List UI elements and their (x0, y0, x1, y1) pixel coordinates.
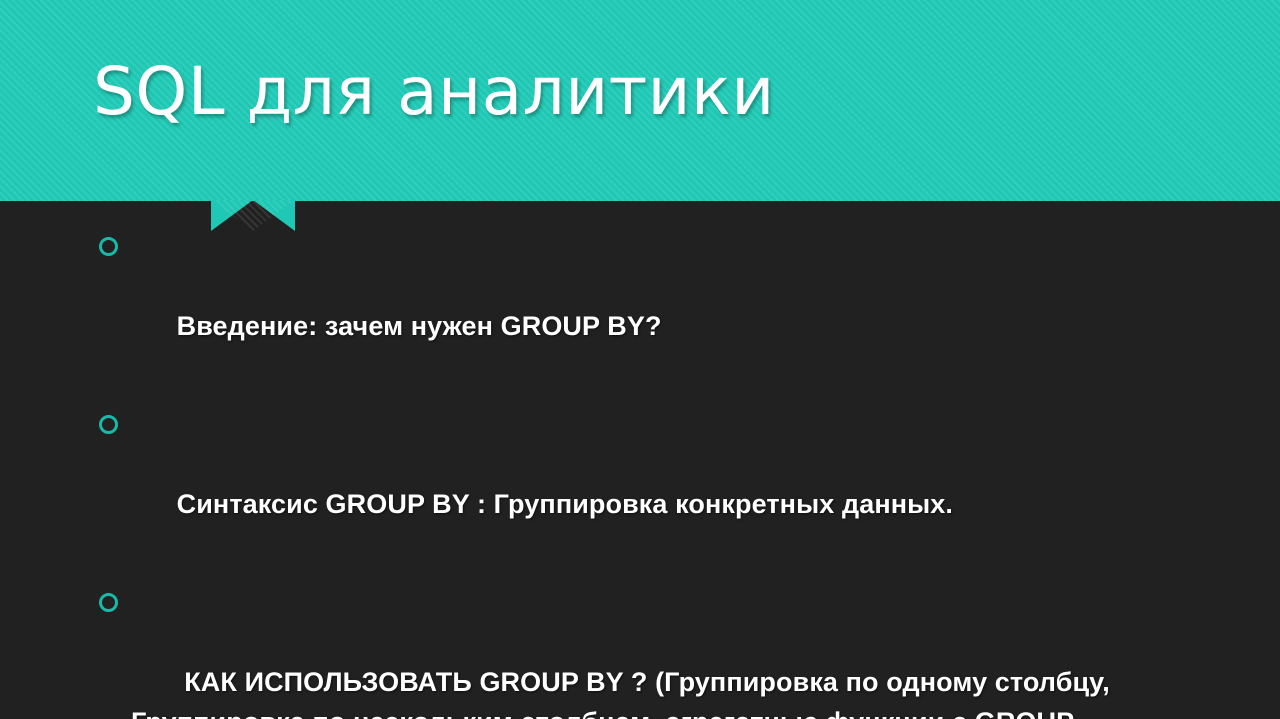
banner-triangle-notch-icon (211, 200, 295, 231)
bullet-circle-icon (99, 415, 118, 434)
list-item[interactable]: КАК ИСПОЛЬЗОВАТЬ GROUP BY ? (Группировка… (96, 582, 1131, 719)
list-item-label: Введение: зачем нужен GROUP BY? (177, 311, 662, 341)
list-item-label: КАК ИСПОЛЬЗОВАТЬ GROUP BY ? (Группировка… (131, 667, 1117, 719)
presentation-slide: SQL для аналитики Введение: зачем нужен … (0, 0, 1280, 719)
slide-bullet-list: Введение: зачем нужен GROUP BY? Синтакси… (96, 226, 1106, 719)
list-item[interactable]: Введение: зачем нужен GROUP BY? (96, 226, 1106, 386)
page-title: SQL для аналитики (93, 57, 775, 126)
list-item[interactable]: Синтаксис GROUP BY : Группировка конкрет… (96, 404, 1106, 564)
bullet-circle-icon (99, 593, 118, 612)
list-item-label: Синтаксис GROUP BY : Группировка конкрет… (177, 489, 953, 519)
bullet-circle-icon (99, 237, 118, 256)
